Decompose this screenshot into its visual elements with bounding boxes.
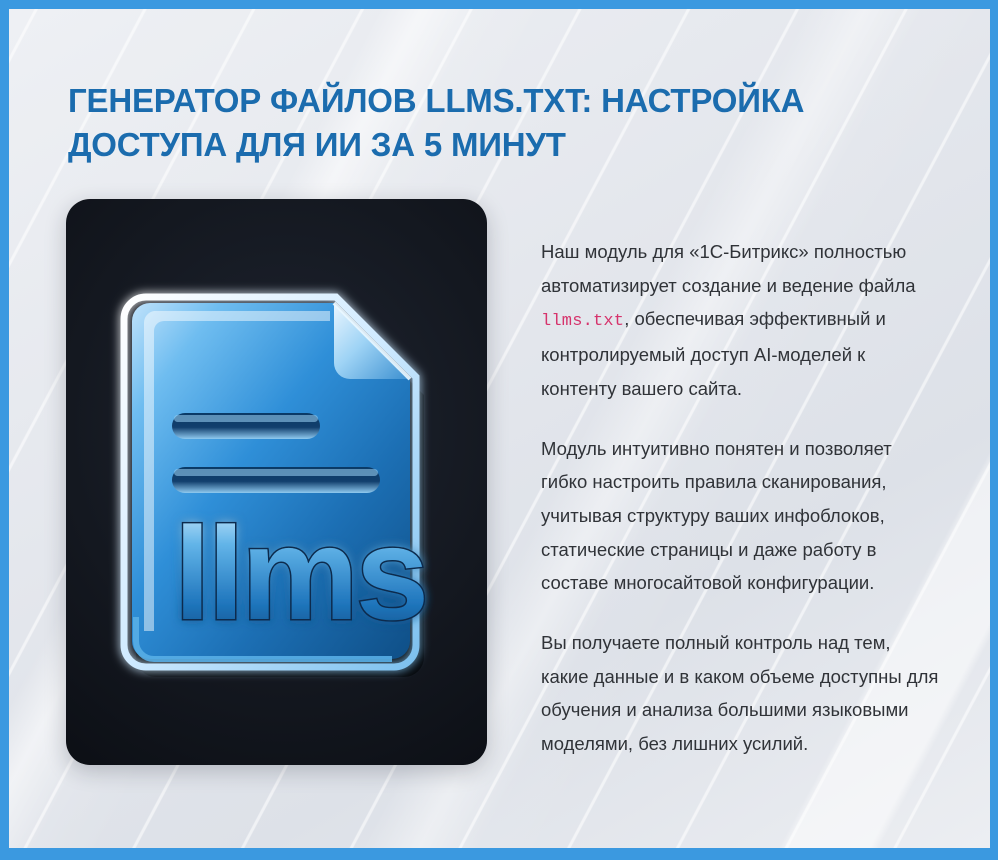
- llms-document-icon: llms: [102, 267, 452, 697]
- description-text: Наш модуль для «1С-Битрикс» полностью ав…: [541, 199, 941, 760]
- paragraph-1: Наш модуль для «1С-Битрикс» полностью ав…: [541, 235, 941, 406]
- page-frame: ГЕНЕРАТОР ФАЙЛОВ LLMS.TXT: НАСТРОЙКА ДОС…: [0, 0, 998, 860]
- content-columns: llms Наш модуль для «1С-Битрикс» полност…: [66, 199, 956, 765]
- artwork-card: llms: [66, 199, 487, 765]
- page-title: ГЕНЕРАТОР ФАЙЛОВ LLMS.TXT: НАСТРОЙКА ДОС…: [68, 79, 928, 167]
- paragraph-1-lead: Наш модуль для «1С-Битрикс» полностью ав…: [541, 241, 916, 296]
- svg-text:llms: llms: [174, 500, 426, 647]
- page-canvas: ГЕНЕРАТОР ФАЙЛОВ LLMS.TXT: НАСТРОЙКА ДОС…: [9, 9, 990, 848]
- paragraph-3: Вы получаете полный контроль над тем, ка…: [541, 626, 941, 761]
- paragraph-2: Модуль интуитивно понятен и позволяет ги…: [541, 432, 941, 600]
- inline-code-llms-txt: llms.txt: [541, 312, 624, 331]
